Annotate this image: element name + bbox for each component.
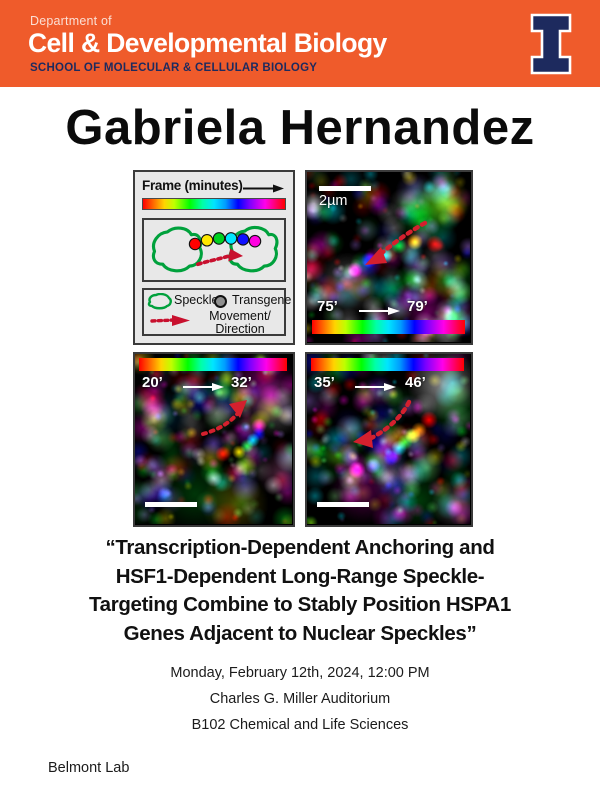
speckle-diagram-box [142, 218, 286, 282]
micrograph-bottom-left: 20’ 32’ [133, 352, 295, 527]
time-colorbar [142, 198, 286, 210]
time-colorbar [139, 358, 287, 371]
talk-title-line-4: Genes Adjacent to Nuclear Speckles” [124, 622, 477, 645]
diagram-panel: Frame (minutes) [133, 170, 295, 345]
right-arrow-icon [183, 382, 225, 392]
speckle-schematic [144, 220, 283, 279]
event-address: B102 Chemical and Life Sciences [40, 712, 560, 738]
movement-direction-arrow-icon [195, 398, 251, 458]
time-end-label: 32’ [231, 374, 252, 391]
lab-name: Belmont Lab [48, 760, 129, 776]
event-datetime: Monday, February 12th, 2024, 12:00 PM [40, 660, 560, 686]
time-colorbar [311, 358, 464, 371]
panel-top-right: 2µm 75’ 79’ [305, 170, 473, 345]
panel-bottom-right: 35’ 46’ [305, 352, 473, 527]
movement-direction-arrow-icon [357, 217, 429, 273]
talk-title-line-3: Targeting Combine to Stably Position HSP… [89, 593, 511, 616]
speaker-name: Gabriela Hernandez [0, 100, 600, 156]
department-name: Cell & Developmental Biology [28, 28, 387, 59]
legend-movement-label: Movement/ Direction [196, 310, 284, 336]
micrograph-top-right: 2µm 75’ 79’ [305, 170, 473, 345]
time-start-label: 20’ [142, 374, 163, 391]
right-arrow-icon [243, 184, 285, 193]
poster-header: Department of Cell & Developmental Biolo… [0, 0, 600, 87]
school-name: SCHOOL OF MOLECULAR & CELLULAR BIOLOGY [30, 62, 317, 74]
legend-transgene-label: Transgene [232, 293, 291, 307]
department-of-label: Department of [30, 14, 112, 28]
time-start-label: 75’ [317, 298, 338, 315]
event-details: Monday, February 12th, 2024, 12:00 PM Ch… [40, 660, 560, 738]
diagram-legend: Speckle Transgene Movement/ Direction [142, 288, 286, 336]
panel-bottom-left: 20’ 32’ [133, 352, 295, 527]
speckle-icon [147, 293, 173, 310]
talk-title-line-1: “Transcription-Dependent Anchoring and [105, 536, 494, 559]
university-of-illinois-block-i-logo [528, 13, 574, 75]
scale-bar [317, 502, 369, 507]
scale-bar [145, 502, 197, 507]
time-colorbar [312, 320, 465, 334]
figure-grid: Frame (minutes) [133, 170, 473, 527]
frame-minutes-label: Frame (minutes) [142, 178, 243, 193]
time-end-label: 79’ [407, 298, 428, 315]
time-start-label: 35’ [314, 374, 335, 391]
transgene-icon [214, 295, 227, 308]
time-end-label: 46’ [405, 374, 426, 391]
movement-direction-arrow-icon [150, 313, 194, 327]
scale-bar [319, 186, 371, 191]
talk-title-line-2: HSF1-Dependent Long-Range Speckle- [116, 565, 485, 588]
diagram-background: Frame (minutes) [133, 170, 295, 345]
talk-title: “Transcription-Dependent Anchoring and H… [38, 534, 562, 648]
legend-speckle-label: Speckle [174, 293, 218, 307]
movement-direction-arrow-icon [345, 398, 417, 454]
right-arrow-icon [359, 306, 401, 316]
right-arrow-icon [355, 382, 397, 392]
micrograph-bottom-right: 35’ 46’ [305, 352, 473, 527]
event-venue: Charles G. Miller Auditorium [40, 686, 560, 712]
scale-bar-label: 2µm [319, 193, 348, 209]
